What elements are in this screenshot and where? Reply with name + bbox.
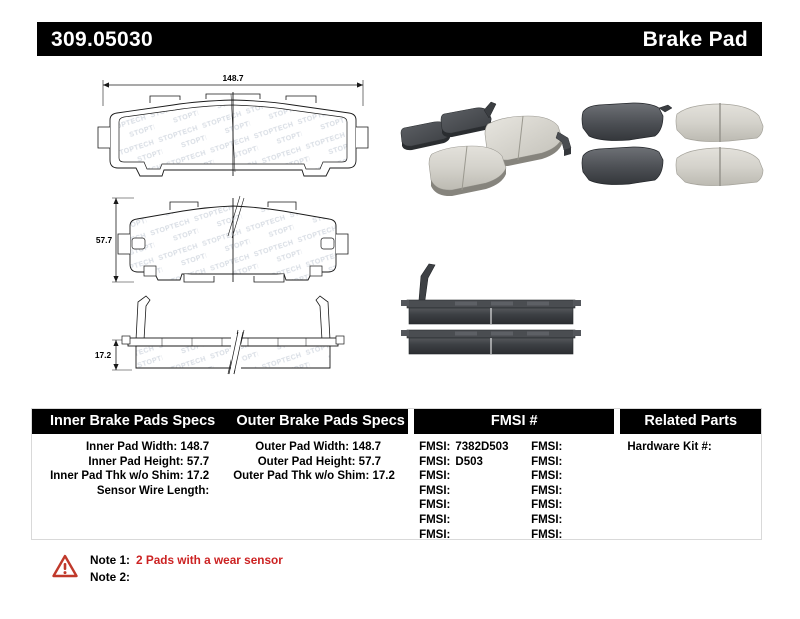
fmsi-sublist-a: FMSI:7382D503 FMSI:D503 FMSI: FMSI: FMSI	[419, 440, 531, 542]
column-header-fmsi: FMSI #	[414, 409, 614, 434]
fmsi-label: FMSI:	[419, 528, 450, 543]
spec-row: Outer Pad Thk w/o Shim: 17.2	[233, 469, 411, 484]
note-value: 2 Pads with a wear sensor	[136, 552, 283, 569]
related-parts-list: Hardware Kit #:	[617, 434, 761, 455]
fmsi-label: FMSI:	[531, 469, 562, 484]
product-spec-sheet: 309.05030 Brake Pad STOPTECH STOPTECH	[0, 0, 800, 619]
fmsi-row: FMSI:	[419, 498, 531, 513]
fmsi-label: FMSI:	[531, 513, 562, 528]
notes-list: Note 1:2 Pads with a wear sensor Note 2:	[90, 552, 283, 586]
warning-triangle-icon	[52, 554, 78, 578]
fmsi-label: FMSI:	[531, 528, 562, 543]
spec-row: Inner Pad Width: 148.7	[32, 440, 233, 455]
fmsi-row: FMSI:	[531, 469, 611, 484]
fmsi-row: FMSI:	[531, 513, 611, 528]
product-photo-front-back-set	[573, 98, 778, 196]
fmsi-row: FMSI:	[419, 469, 531, 484]
fmsi-row: FMSI:	[531, 528, 611, 543]
fmsi-value: 7382D503	[455, 440, 508, 455]
outer-specs-list: Outer Pad Width: 148.7 Outer Pad Height:…	[233, 434, 411, 484]
fmsi-label: FMSI:	[531, 455, 562, 470]
column-inner-specs: Inner Brake Pads Specs Inner Pad Width: …	[32, 409, 233, 539]
fmsi-row: FMSI:	[419, 513, 531, 528]
fmsi-row: FMSI:	[419, 484, 531, 499]
fmsi-list: FMSI:7382D503 FMSI:D503 FMSI: FMSI: FMSI	[411, 434, 617, 542]
spec-row: Sensor Wire Length:	[32, 484, 233, 499]
column-header-outer-specs: Outer Brake Pads Specs	[233, 409, 408, 434]
note-label: Note 1:	[90, 552, 130, 569]
fmsi-label: FMSI:	[419, 498, 450, 513]
spec-row: Outer Pad Height: 57.7	[233, 455, 411, 470]
dimension-thickness-label: 17.2	[95, 350, 112, 360]
fmsi-label: FMSI:	[419, 440, 450, 455]
fmsi-label: FMSI:	[531, 440, 562, 455]
fmsi-row: FMSI:7382D503	[419, 440, 531, 455]
specifications-table: Inner Brake Pads Specs Inner Pad Width: …	[31, 408, 762, 540]
note-label: Note 2:	[90, 569, 130, 586]
fmsi-sublist-b: FMSI: FMSI: FMSI: FMSI: FMSI:	[531, 440, 611, 542]
product-type: Brake Pad	[643, 29, 748, 50]
spec-row: Inner Pad Height: 57.7	[32, 455, 233, 470]
fmsi-label: FMSI:	[419, 484, 450, 499]
inner-specs-list: Inner Pad Width: 148.7 Inner Pad Height:…	[32, 434, 233, 498]
fmsi-row: FMSI:	[531, 484, 611, 499]
column-related-parts: Related Parts Hardware Kit #:	[617, 409, 761, 539]
dimension-width-label: 148.7	[223, 73, 244, 83]
fmsi-label: FMSI:	[419, 513, 450, 528]
fmsi-label: FMSI:	[419, 455, 450, 470]
fmsi-row: FMSI:	[531, 440, 611, 455]
part-number: 309.05030	[51, 29, 153, 50]
fmsi-label: FMSI:	[531, 484, 562, 499]
fmsi-row: FMSI:	[531, 455, 611, 470]
fmsi-label: FMSI:	[419, 469, 450, 484]
product-photo-edge-view-pair	[395, 256, 590, 361]
column-header-related-parts: Related Parts	[620, 409, 761, 434]
spec-row: Inner Pad Thk w/o Shim: 17.2	[32, 469, 233, 484]
column-fmsi: FMSI # FMSI:7382D503 FMSI:D503 FMSI:	[411, 409, 617, 539]
fmsi-row: FMSI:	[531, 498, 611, 513]
dimension-height-label: 57.7	[96, 235, 113, 245]
spec-row: Outer Pad Width: 148.7	[233, 440, 411, 455]
note-row: Note 1:2 Pads with a wear sensor	[90, 552, 283, 569]
drawing-pad-face-width: 148.7	[88, 72, 378, 192]
related-part-row: Hardware Kit #:	[627, 440, 761, 455]
fmsi-row: FMSI:D503	[419, 455, 531, 470]
fmsi-row: FMSI:	[419, 528, 531, 543]
column-header-inner-specs: Inner Brake Pads Specs	[32, 409, 233, 434]
note-row: Note 2:	[90, 569, 283, 586]
drawing-pad-edge-thickness: 17.2	[88, 278, 378, 388]
fmsi-value: D503	[455, 455, 483, 470]
notes-section: Note 1:2 Pads with a wear sensor Note 2:	[52, 552, 283, 586]
column-outer-specs: Outer Brake Pads Specs Outer Pad Width: …	[233, 409, 411, 539]
header-bar: 309.05030 Brake Pad	[37, 22, 762, 56]
product-photo-angled-set	[392, 98, 588, 196]
fmsi-label: FMSI:	[531, 498, 562, 513]
product-illustration-area: STOPTECH STOPTECH	[0, 60, 800, 400]
